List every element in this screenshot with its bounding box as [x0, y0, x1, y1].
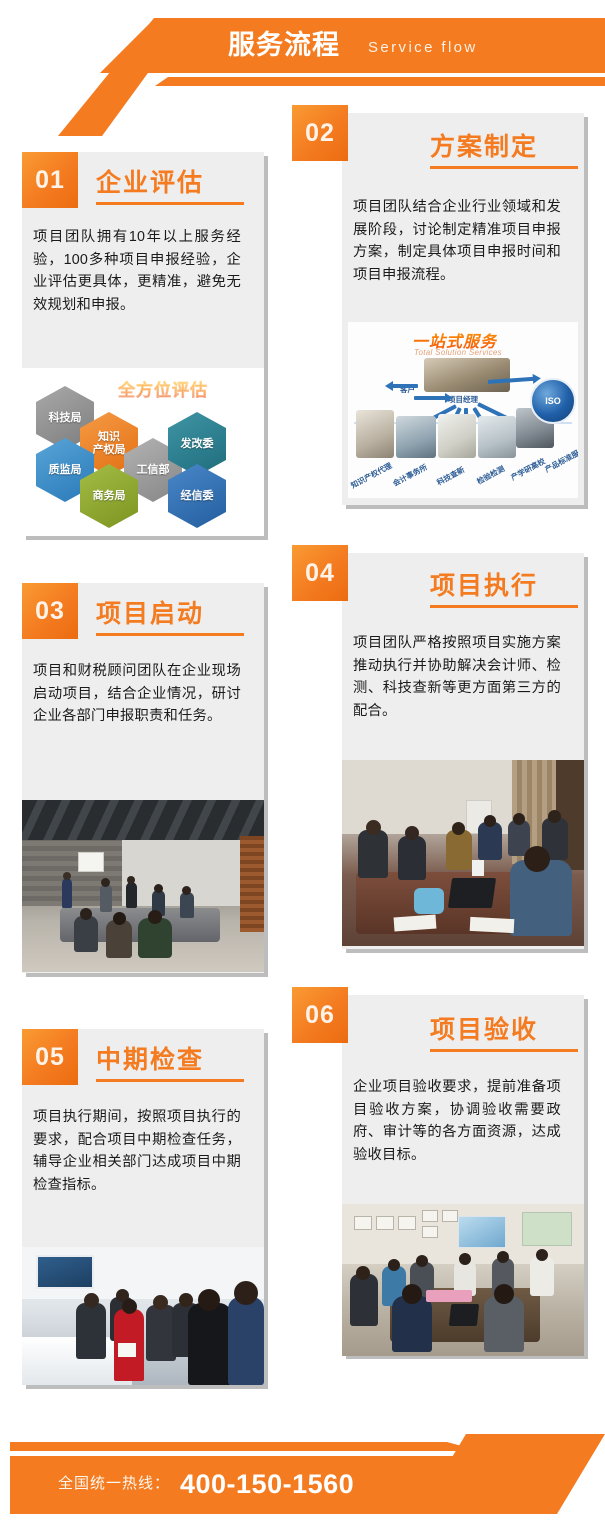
hexagon-assessment-diagram: 全方位评估 科技局 知识产权局 质监局 工信部 商务局 发改委 经信委 [22, 368, 264, 536]
card-03-title: 项目启动 [96, 594, 204, 630]
card-05-number-badge: 05 [22, 1029, 78, 1085]
photo-flowers [426, 1290, 472, 1302]
service-thumb-novelty [438, 414, 476, 458]
photo-person-blue-coat [228, 1297, 264, 1385]
photo-person-head [63, 872, 71, 880]
photo-person-foreground [392, 1296, 432, 1352]
photo-person-head [452, 822, 465, 835]
site-visit-photo [22, 1247, 264, 1385]
service-arrow-client [392, 384, 418, 388]
photo-person-head [494, 1284, 514, 1304]
hexagon-node-label: 商务局 [93, 490, 126, 503]
card-04-title-rule [430, 605, 578, 608]
photo-person-head [154, 884, 163, 893]
photo-certificate-frame [422, 1226, 438, 1238]
page-footer: 全国统一热线： 400-150-1560 [0, 1424, 605, 1538]
photo-person-head [536, 1249, 548, 1261]
photo-ceiling [22, 800, 264, 840]
photo-certificate-frame [354, 1216, 372, 1230]
card-01-text: 项目团队拥有10年以上服务经验，100多种项目申报经验，企业评估更具体，更精准，… [33, 226, 241, 316]
card-06-text: 企业项目验收要求，提前准备项目验收方案，协调验收需要政府、审计等的各方面资源，达… [353, 1076, 561, 1166]
photo-whiteboard [78, 852, 104, 872]
service-arrow-center [414, 396, 446, 400]
photo-paper [394, 915, 437, 932]
hexagon-diagram-title: 全方位评估 [118, 376, 208, 401]
service-node-label-1: 会计事务所 [391, 462, 429, 489]
photo-person [350, 1274, 378, 1326]
photo-bag [414, 888, 444, 914]
card-01-title: 企业评估 [96, 163, 204, 199]
hexagon-node-label: 发改委 [181, 438, 214, 451]
photo-laptop [448, 878, 496, 908]
photo-person-head [459, 1253, 471, 1265]
service-flow-infographic: 服务流程 Service flow 01 企业评估 项目团队拥有10年以上服务经… [0, 0, 605, 1538]
service-thumb-accounting [396, 416, 436, 458]
card-03-text: 项目和财税顾问团队在企业现场启动项目，结合企业情况，研讨企业各部门申报职责和任务… [33, 660, 241, 728]
photo-certificate-frame [398, 1216, 416, 1230]
photo-person [358, 830, 388, 878]
photo-person [478, 822, 502, 860]
service-thumb-testing [478, 416, 516, 458]
hotline-label: 全国统一热线： [58, 1473, 170, 1495]
photo-certificate-frame [376, 1216, 394, 1230]
photo-person [180, 892, 194, 918]
photo-person [100, 884, 112, 912]
photo-person-head [497, 1251, 509, 1263]
photo-person-foreground [510, 860, 572, 936]
hexagon-node-label: 经信委 [181, 490, 214, 503]
card-06-number-badge: 06 [292, 987, 348, 1043]
photo-person-head [388, 1259, 400, 1271]
hexagon-node-label: 知识产权局 [93, 431, 126, 457]
card-06-title: 项目验收 [430, 1010, 538, 1046]
photo-person-head [84, 1293, 99, 1308]
hotline-number[interactable]: 400-150-1560 [180, 1466, 354, 1502]
photo-person [446, 830, 472, 870]
card-04-number-badge: 04 [292, 545, 348, 601]
photo-person [530, 1256, 554, 1296]
photo-documents [118, 1343, 136, 1357]
card-05-title-rule [96, 1079, 244, 1082]
photo-certificate-frame [422, 1210, 438, 1222]
card-01-title-rule [96, 202, 244, 205]
photo-person-head [405, 826, 419, 840]
photo-person-head [127, 876, 135, 884]
photo-person-head [80, 908, 92, 920]
photo-person-foreground [484, 1296, 524, 1352]
photo-paper [470, 917, 515, 933]
service-node-label-3: 检验检测 [475, 463, 507, 487]
card-05-title: 中期检查 [96, 1040, 204, 1076]
card-02-number-badge: 02 [292, 105, 348, 161]
photo-person [106, 920, 132, 958]
photo-person-head [122, 1299, 137, 1314]
photo-display-screen [36, 1255, 94, 1289]
page-header: 服务流程 Service flow [0, 0, 605, 108]
service-node-label-0: 知识产权代理 [349, 460, 394, 491]
photo-person-head [366, 820, 381, 835]
photo-projector-screen [458, 1216, 506, 1248]
photo-person-head [484, 815, 496, 827]
card-02-title: 方案制定 [430, 127, 538, 163]
service-iso-seal: ISO [530, 378, 576, 424]
card-03-title-rule [96, 633, 244, 636]
photo-cup [472, 860, 484, 876]
acceptance-meeting-photo [342, 1204, 584, 1356]
photo-wood-panel [240, 836, 264, 932]
card-05-text: 项目执行期间，按照项目执行的要求，配合项目中期检查任务，辅导企业相关部门达成项目… [33, 1106, 241, 1196]
photo-person-head [153, 1295, 168, 1310]
photo-person [76, 1303, 106, 1359]
photo-person-head [402, 1284, 422, 1304]
photo-person-head [148, 910, 162, 924]
photo-person-head [179, 1293, 193, 1307]
card-06-title-rule [430, 1049, 578, 1052]
card-03-number-badge: 03 [22, 583, 78, 639]
photo-person-head [513, 813, 525, 825]
service-node-label-4: 产学研高校 [509, 456, 547, 483]
photo-person-green-coat [138, 918, 172, 958]
meeting-laptops-photo [342, 760, 584, 946]
photo-whiteboard [522, 1212, 572, 1246]
service-diagram-subtitle: Total Solution Services [414, 348, 502, 357]
hexagon-node-label: 工信部 [137, 464, 170, 477]
hexagon-node-label: 质监局 [49, 464, 82, 477]
photo-person [62, 878, 72, 908]
photo-person [74, 916, 98, 952]
photo-person [126, 882, 137, 908]
photo-person [398, 836, 426, 880]
photo-certificate-frame [442, 1210, 458, 1222]
page-title: 服务流程 [228, 27, 340, 63]
service-node-label-5: 产品标准服务 [543, 444, 578, 475]
card-02-text: 项目团队结合企业行业领域和发展阶段，讨论制定精准项目申报方案，制定具体项目申报时… [353, 196, 561, 286]
photo-person-head [182, 886, 191, 895]
photo-person-head [524, 846, 550, 872]
card-02-title-rule [430, 166, 578, 169]
photo-person-head [198, 1289, 220, 1311]
photo-person-head [101, 878, 110, 887]
card-04-title: 项目执行 [430, 566, 538, 602]
service-node-label-2: 科技查新 [435, 464, 467, 488]
service-center-photo [424, 358, 510, 392]
photo-person-head [548, 810, 561, 823]
photo-laptop [449, 1304, 479, 1326]
service-thumb-ip [356, 410, 394, 458]
photo-person-head [113, 912, 126, 925]
card-01-number-badge: 01 [22, 152, 78, 208]
hexagon-node-label: 科技局 [49, 412, 82, 425]
page-subtitle: Service flow [368, 37, 478, 59]
one-stop-service-diagram: 一站式服务 Total Solution Services 客户 项目经理 IS… [348, 322, 578, 498]
photo-person-head [356, 1266, 370, 1280]
header-orange-underbar [0, 77, 605, 86]
photo-person-head [234, 1281, 258, 1305]
conference-room-photo [22, 800, 264, 972]
photo-person-head [416, 1255, 428, 1267]
card-04-text: 项目团队严格按照项目实施方案推动执行并协助解决会计师、检测、科技查新等更方面第三… [353, 632, 561, 722]
photo-person-black-coat [188, 1303, 232, 1385]
